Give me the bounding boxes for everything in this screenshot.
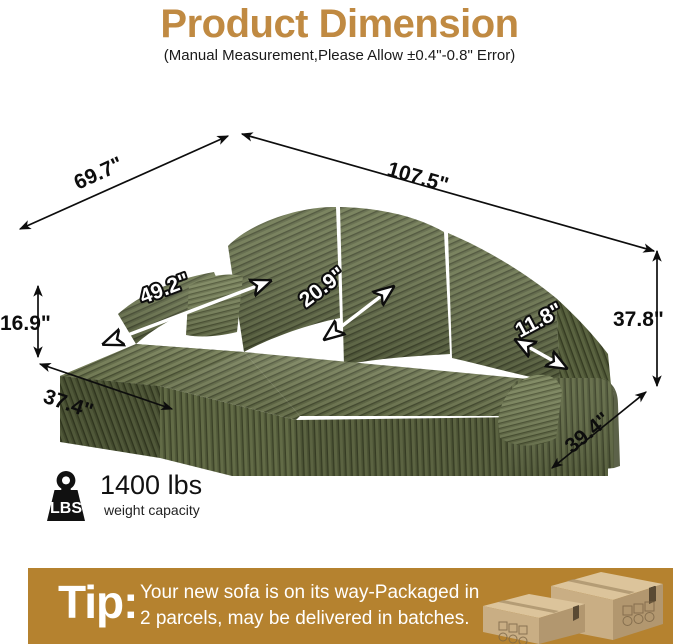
weight-value: 1400 lbs <box>100 470 202 500</box>
dim-label-20-9: 20.9" <box>295 263 349 312</box>
header: Product Dimension (Manual Measurement,Pl… <box>0 0 679 80</box>
dimension-annotations: 69.7" 107.5" 49.2" 20.9" 11.8" 16.9" <box>0 86 679 476</box>
page-subtitle: (Manual Measurement,Please Allow ±0.4"-0… <box>0 47 679 65</box>
dim-overall-height: 37.8" <box>613 251 664 386</box>
tip-banner: Tip: Your new sofa is on its way-Package… <box>28 568 673 644</box>
product-illustration: 69.7" 107.5" 49.2" 20.9" 11.8" 16.9" <box>0 86 679 476</box>
dim-overall-depth: 39.4" <box>552 392 646 468</box>
dim-overall-width: 107.5" <box>242 134 654 251</box>
weight-caption: weight capacity <box>104 502 200 519</box>
dim-label-49-2: 49.2" <box>137 269 193 309</box>
dim-label-107-5: 107.5" <box>385 158 451 197</box>
dim-label-37-8: 37.8" <box>613 308 664 331</box>
tip-message-line1: Your new sofa is on its way-Packaged in <box>140 580 510 606</box>
tip-label: Tip: <box>58 576 137 628</box>
tip-message: Your new sofa is on its way-Packaged in … <box>140 580 510 632</box>
dim-label-39-4: 39.4" <box>561 408 615 458</box>
dim-label-11-8: 11.8" <box>512 299 567 343</box>
dim-armrest-width: 11.8" <box>512 299 567 368</box>
dim-chaise-length: 49.2" <box>104 269 270 344</box>
page-title: Product Dimension <box>0 2 679 46</box>
parcel-boxes-icon <box>477 570 667 644</box>
dim-label-69-7: 69.7" <box>71 153 127 195</box>
weight-icon: LBS <box>38 468 94 524</box>
weight-icon-label: LBS <box>50 500 82 517</box>
parcel-box-front <box>483 594 585 644</box>
dim-label-37-4: 37.4" <box>40 385 96 423</box>
dim-label-16-9: 16.9" <box>0 312 51 335</box>
dim-chaise-width: 37.4" <box>40 364 172 423</box>
weight-capacity-block: LBS 1400 lbs weight capacity <box>34 466 294 528</box>
dim-depth-left: 69.7" <box>20 136 228 229</box>
dim-seat-height: 16.9" <box>0 286 51 357</box>
dim-seat-depth: 20.9" <box>295 263 393 339</box>
tip-message-line2: 2 parcels, may be delivered in batches. <box>140 606 510 632</box>
